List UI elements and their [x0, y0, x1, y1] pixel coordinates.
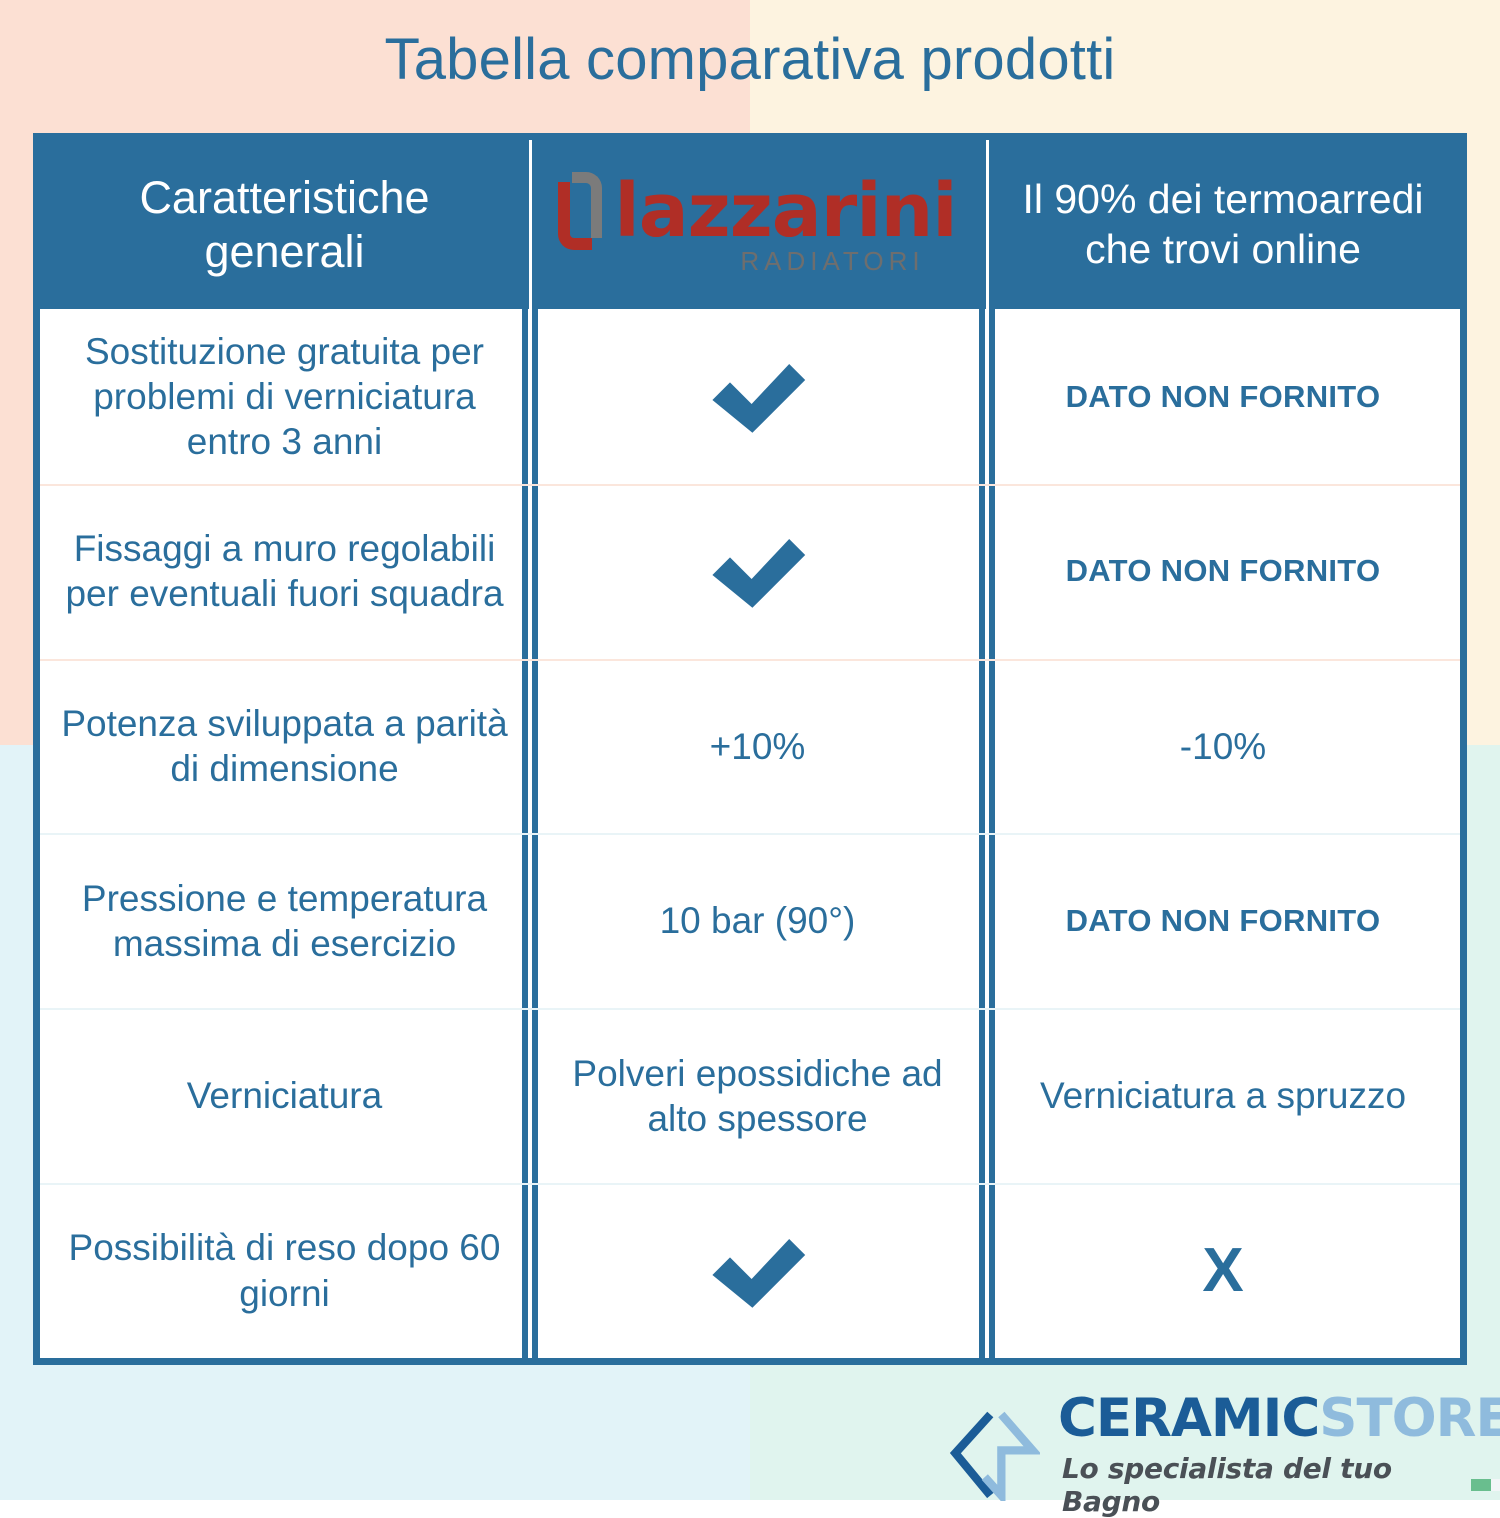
table-cell-feature-label: Potenza sviluppata a parità di dimension… [54, 701, 515, 791]
table-cell-competitors: -10% [986, 659, 1460, 834]
comparison-table: Caratteristiche generali lazzarini RADIA… [33, 133, 1467, 1365]
table-header-features-label: Caratteristiche generali [40, 171, 529, 277]
ceramicstore-tagline: Lo specialista del tuo Bagno [1062, 1452, 1457, 1518]
table-cell-feature-label: Possibilità di reso dopo 60 giorni [54, 1225, 515, 1315]
ceramicstore-mark-icon [948, 1409, 1040, 1501]
table-cell-feature-label: Fissaggi a muro regolabili per eventuali… [54, 526, 515, 616]
ceramicstore-word-primary: CERAMIC [1058, 1392, 1319, 1445]
table-cell-feature: Fissaggi a muro regolabili per eventuali… [40, 484, 529, 659]
ceramicstore-tagline-row: Lo specialista del tuo Bagno [1058, 1452, 1500, 1518]
table-header-lazzarini: lazzarini RADIATORI [529, 140, 986, 309]
table-header-row: Caratteristiche generali lazzarini RADIA… [40, 140, 1460, 309]
table-cell-feature-label: Pressione e temperatura massima di eserc… [54, 876, 515, 966]
table-cell-value: -10% [1180, 724, 1266, 769]
lazzarini-logo: lazzarini RADIATORI [529, 172, 986, 277]
table-row: Sostituzione gratuita per problemi di ve… [40, 309, 1460, 484]
table-cell-feature: Sostituzione gratuita per problemi di ve… [40, 309, 529, 484]
lazzarini-mark-icon [558, 172, 604, 250]
table-row: Potenza sviluppata a parità di dimension… [40, 659, 1460, 834]
table-cell-competitors: DATO NON FORNITO [986, 833, 1460, 1008]
table-cell-value: +10% [710, 724, 806, 769]
table-cell-feature-label: Verniciatura [187, 1073, 382, 1118]
table-header-competitors: Il 90% dei termoarredi che trovi online [986, 140, 1460, 309]
check-icon [706, 356, 810, 436]
table-cell-value: 10 bar (90°) [660, 898, 856, 943]
table-cell-feature: Pressione e temperatura massima di eserc… [40, 833, 529, 1008]
page-title: Tabella comparativa prodotti [0, 28, 1500, 92]
table-cell-competitors: DATO NON FORNITO [986, 309, 1460, 484]
table-cell-feature: Verniciatura [40, 1008, 529, 1183]
table-row: Pressione e temperatura massima di eserc… [40, 833, 1460, 1008]
table-header-competitors-label: Il 90% dei termoarredi che trovi online [986, 175, 1460, 273]
ceramicstore-logo[interactable]: CERAMIC STORE ® Lo specialista del tuo B… [948, 1392, 1500, 1518]
lazzarini-wordmark: lazzarini [614, 177, 956, 245]
check-icon [706, 531, 810, 611]
ceramicstore-text: CERAMIC STORE ® Lo specialista del tuo B… [1058, 1392, 1500, 1518]
table-cell-competitors: Verniciatura a spruzzo [986, 1008, 1460, 1183]
table-cell-value: DATO NON FORNITO [1066, 552, 1381, 590]
cross-icon: X [1202, 1240, 1243, 1302]
table-cell-lazzarini [529, 1183, 986, 1358]
italian-flag-icon [1471, 1479, 1500, 1491]
table-header-features: Caratteristiche generali [40, 140, 529, 309]
table-cell-value: DATO NON FORNITO [1066, 902, 1381, 940]
table-cell-lazzarini [529, 309, 986, 484]
table-cell-lazzarini: +10% [529, 659, 986, 834]
lazzarini-subtitle: RADIATORI [740, 246, 924, 277]
table-row: Fissaggi a muro regolabili per eventuali… [40, 484, 1460, 659]
table-cell-competitors: DATO NON FORNITO [986, 484, 1460, 659]
table-cell-competitors: X [986, 1183, 1460, 1358]
table-cell-value: DATO NON FORNITO [1066, 378, 1381, 416]
table-cell-feature-label: Sostituzione gratuita per problemi di ve… [54, 329, 515, 464]
check-icon [706, 1231, 810, 1311]
table-cell-lazzarini: Polveri epossidiche ad alto spessore [529, 1008, 986, 1183]
table-cell-feature: Potenza sviluppata a parità di dimension… [40, 659, 529, 834]
table-cell-lazzarini: 10 bar (90°) [529, 833, 986, 1008]
table-cell-feature: Possibilità di reso dopo 60 giorni [40, 1183, 529, 1358]
table-cell-value: Verniciatura a spruzzo [1040, 1073, 1406, 1118]
table-row: VerniciaturaPolveri epossidiche ad alto … [40, 1008, 1460, 1183]
table-cell-value: Polveri epossidiche ad alto spessore [543, 1051, 972, 1141]
table-row: Possibilità di reso dopo 60 giorniX [40, 1183, 1460, 1358]
ceramicstore-wordmark: CERAMIC STORE ® [1058, 1392, 1500, 1445]
table-body: Sostituzione gratuita per problemi di ve… [40, 309, 1460, 1358]
ceramicstore-word-secondary: STORE [1319, 1392, 1500, 1445]
table-cell-lazzarini [529, 484, 986, 659]
lazzarini-logo-row: lazzarini [558, 172, 956, 250]
